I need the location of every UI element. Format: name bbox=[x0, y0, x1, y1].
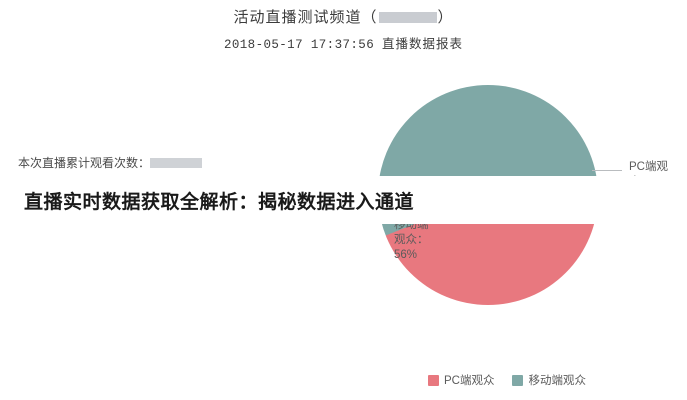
report-subtitle-label: 直播数据报表 bbox=[382, 37, 463, 51]
pie-label-mobile-value: 56% bbox=[394, 248, 429, 263]
stats-row-total: 本次直播累计观看次数： bbox=[18, 150, 318, 176]
legend-swatch-pc bbox=[428, 375, 439, 386]
article-banner-text: 直播实时数据获取全解析：揭秘数据进入通道 bbox=[24, 187, 414, 214]
legend-item-pc[interactable]: PC端观众 bbox=[428, 372, 494, 388]
stats-total-label: 本次直播累计观看次数： bbox=[18, 156, 150, 170]
page-title-prefix: 活动直播测试频道（ bbox=[233, 9, 377, 26]
legend-label-pc: PC端观众 bbox=[444, 372, 494, 388]
pie-chart: PC端观 众： 44% 移动端 观众： 56% bbox=[340, 60, 670, 390]
legend-swatch-mobile bbox=[512, 375, 523, 386]
page-title: 活动直播测试频道（） bbox=[0, 6, 687, 27]
legend-item-mobile[interactable]: 移动端观众 bbox=[512, 372, 586, 388]
chart-legend: PC端观众 移动端观众 bbox=[428, 372, 586, 388]
legend-label-mobile: 移动端观众 bbox=[528, 372, 586, 388]
pie-label-mobile-line2: 观众： bbox=[394, 233, 429, 248]
masked-channel-id bbox=[379, 12, 437, 23]
page-title-suffix: ） bbox=[438, 9, 454, 26]
pie-label-mobile: 移动端 观众： 56% bbox=[394, 218, 429, 263]
report-datetime: 2018-05-17 17:37:56 bbox=[224, 38, 374, 52]
pie-label-pc-line1: PC端观 bbox=[629, 160, 668, 175]
pie-leader-line-pc bbox=[592, 170, 622, 171]
masked-total-value bbox=[150, 158, 202, 168]
report-subtitle: 2018-05-17 17:37:56 直播数据报表 bbox=[0, 33, 687, 52]
article-banner: 直播实时数据获取全解析：揭秘数据进入通道 bbox=[0, 176, 687, 224]
report-page: 活动直播测试频道（） 2018-05-17 17:37:56 直播数据报表 本次… bbox=[0, 0, 687, 400]
